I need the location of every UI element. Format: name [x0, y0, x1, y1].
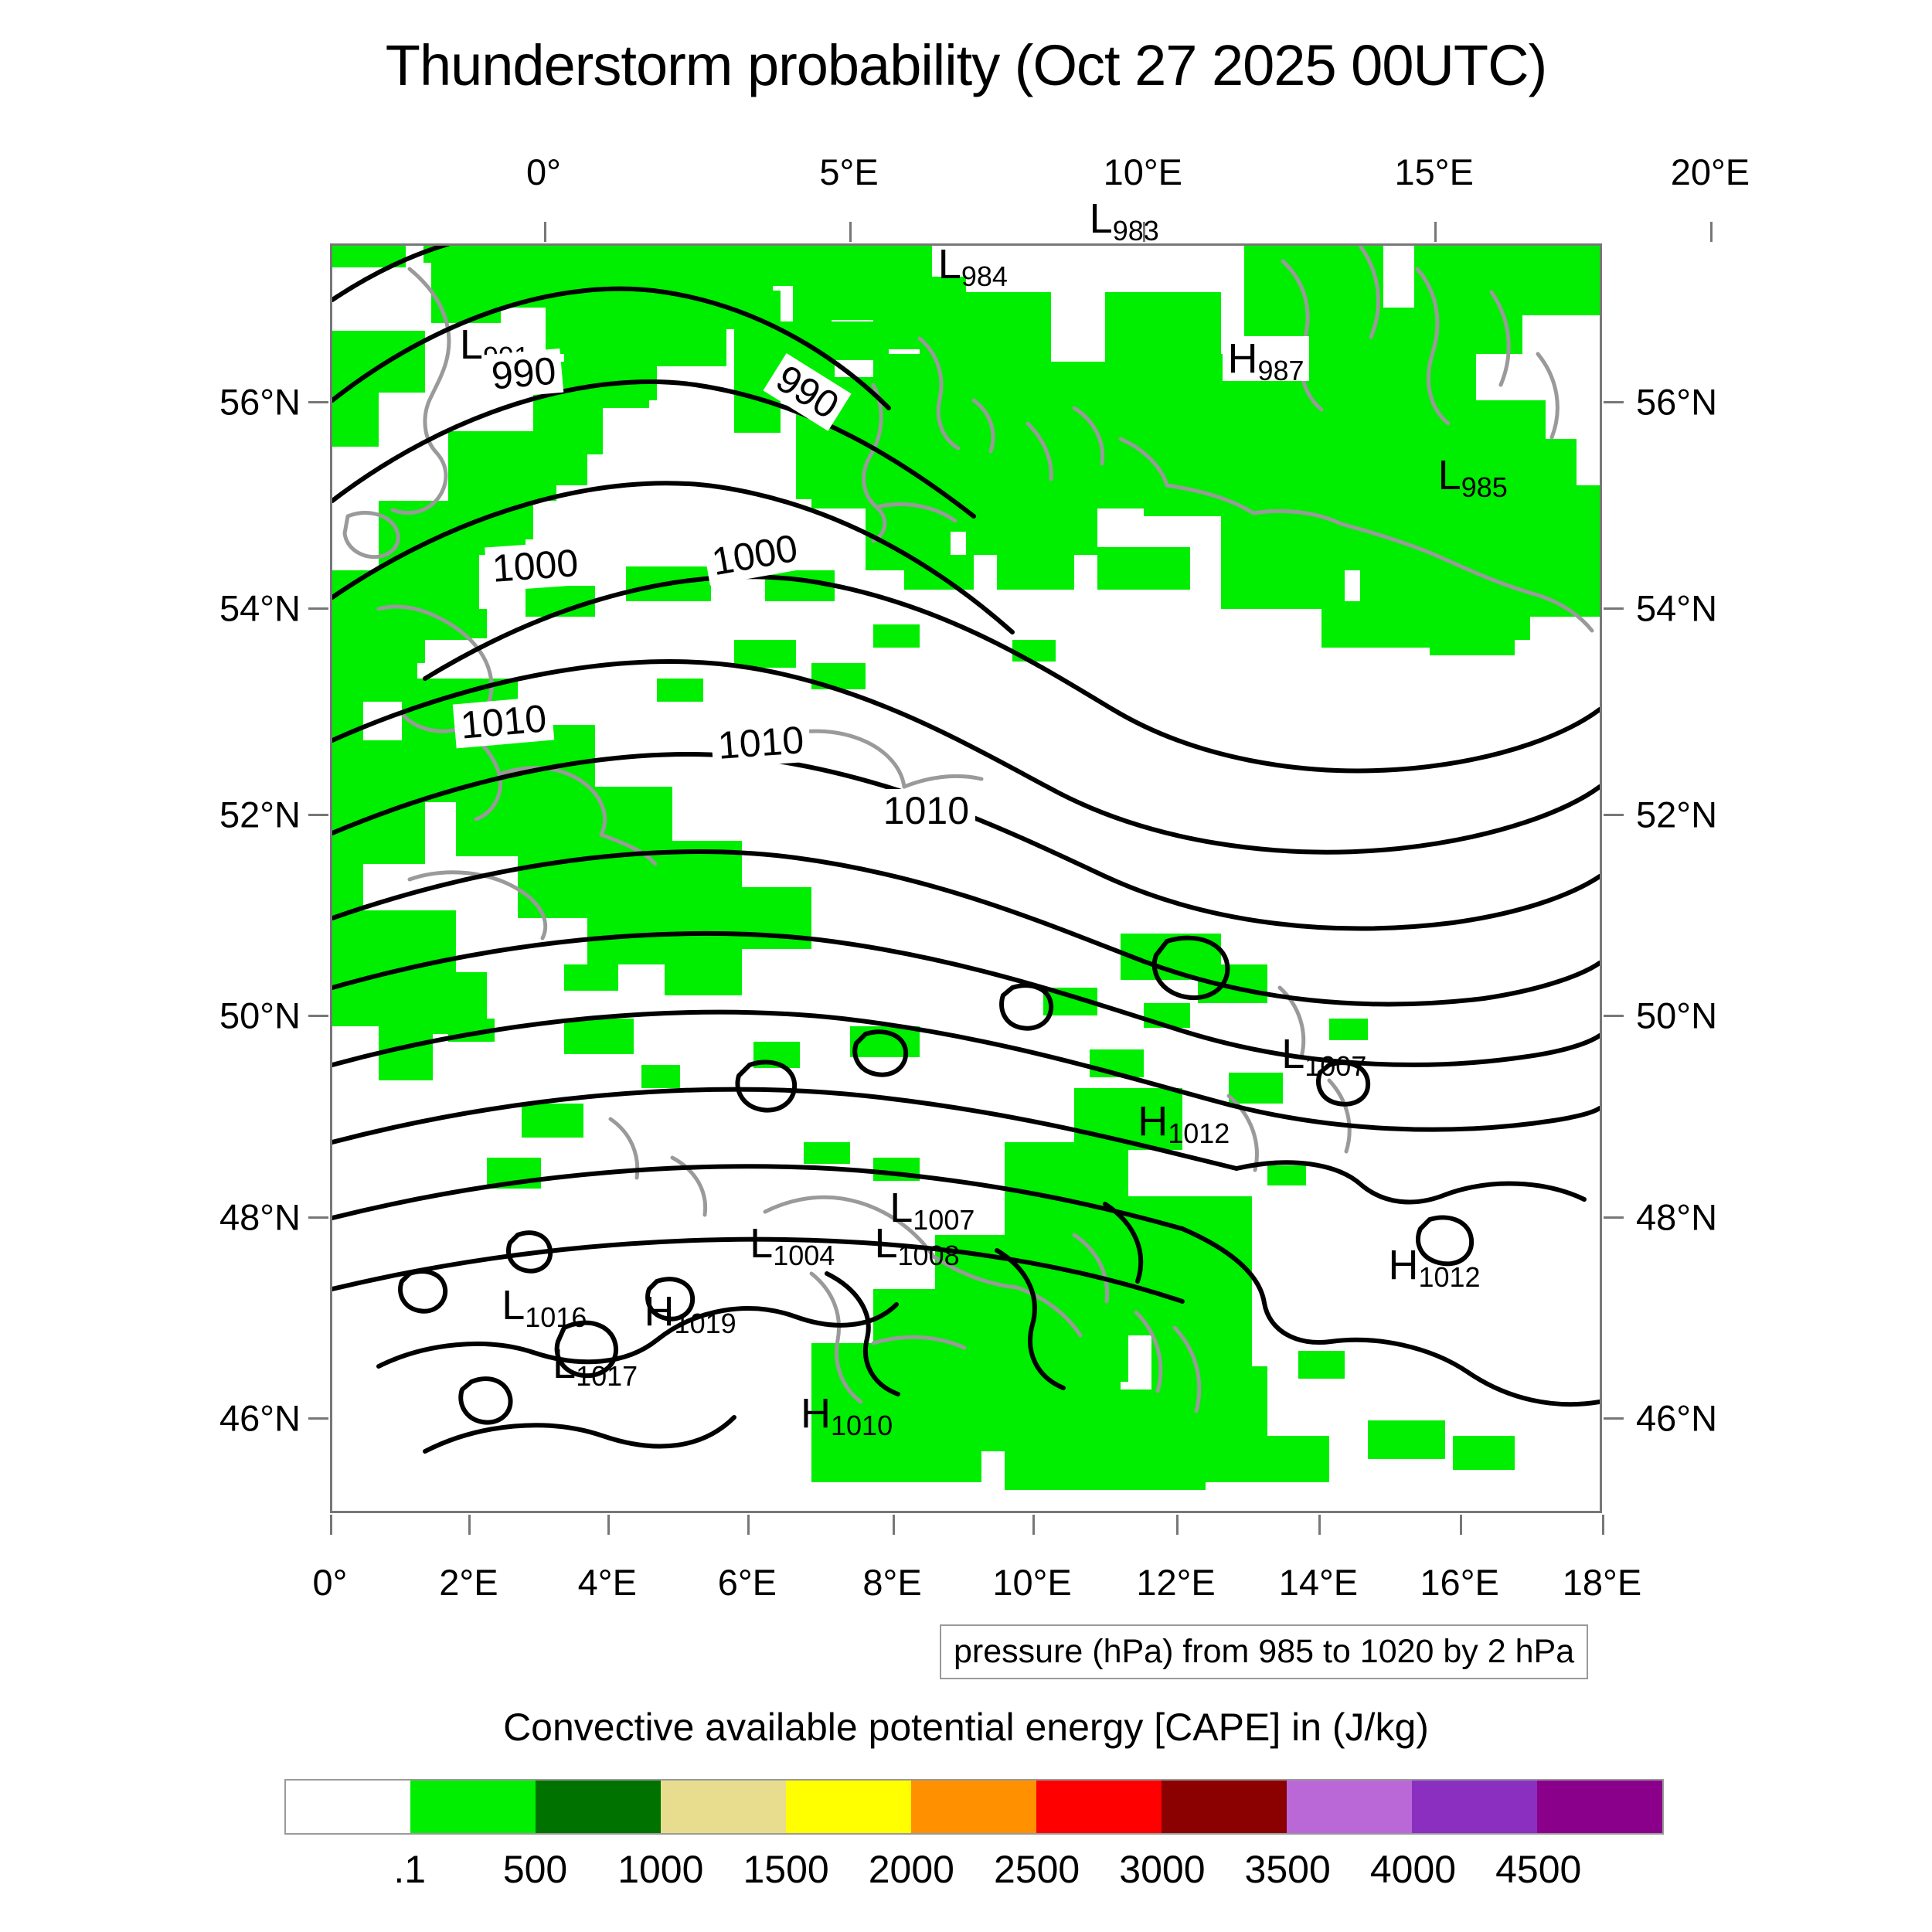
contour-label-1010-5: 1010: [710, 717, 811, 768]
colorbar-segment-0[interactable]: [286, 1781, 410, 1833]
pressure-legend: pressure (hPa) from 985 to 1020 by 2 hPa: [940, 1624, 1588, 1679]
colorbar-tick-500: 500: [503, 1847, 567, 1892]
pressure-system-label-l-1007: L1007: [1281, 1033, 1366, 1075]
right-axis-tick-2: [1604, 814, 1624, 816]
bottom-axis-tick-2: [607, 1515, 610, 1535]
left-axis-label-2: 52°N: [185, 794, 301, 836]
bottom-axis-label-4: 8°E: [862, 1561, 921, 1604]
left-axis-tick-5: [308, 1417, 328, 1420]
pressure-system-symbol: L: [938, 241, 961, 287]
colorbar-tick-1500: 1500: [743, 1847, 828, 1892]
left-axis-tick-0: [308, 401, 328, 403]
right-axis-tick-4: [1604, 1216, 1624, 1219]
colorbar-segment-7[interactable]: [1162, 1781, 1287, 1833]
top-axis-label-1: 5°E: [819, 151, 878, 193]
contour-label-1010-6: 1010: [877, 789, 975, 833]
bottom-axis-tick-5: [1032, 1515, 1035, 1535]
pressure-system-symbol: H: [801, 1390, 831, 1437]
colorbar-segment-10[interactable]: [1537, 1781, 1662, 1833]
top-axis-tick-0: [544, 222, 546, 242]
colorbar-segment-3[interactable]: [661, 1781, 786, 1833]
pressure-system-value: 984: [961, 260, 1008, 292]
left-axis-label-5: 46°N: [185, 1396, 301, 1439]
pressure-system-label-l-984: L984: [938, 243, 1008, 285]
pressure-system-symbol: L: [553, 1341, 576, 1387]
top-axis-label-0: 0°: [526, 151, 561, 193]
colorbar-segment-2[interactable]: [536, 1781, 661, 1833]
pressure-system-value: 1004: [773, 1240, 835, 1271]
bottom-axis-tick-6: [1176, 1515, 1179, 1535]
bottom-axis-label-1: 2°E: [439, 1561, 498, 1604]
pressure-system-value: 1019: [675, 1308, 736, 1339]
pressure-system-label-h-1019: H1019: [645, 1291, 736, 1332]
bottom-axis-tick-3: [747, 1515, 750, 1535]
pressure-system-label-l-1004: L1004: [750, 1223, 835, 1264]
pressure-system-value: 983: [1113, 215, 1159, 247]
colorbar-segment-9[interactable]: [1412, 1781, 1537, 1833]
pressure-system-symbol: H: [1227, 335, 1257, 382]
pressure-system-symbol: L: [460, 321, 483, 368]
pressure-system-label-h-1010: H1010: [801, 1393, 893, 1434]
top-axis-label-3: 15°E: [1395, 151, 1474, 193]
left-axis-tick-2: [308, 814, 328, 816]
left-axis-tick-4: [308, 1216, 328, 1219]
pressure-system-symbol: L: [874, 1220, 897, 1267]
pressure-system-symbol: L: [502, 1282, 525, 1328]
pressure-system-value: 987: [1257, 355, 1304, 386]
colorbar-tick-4000: 4000: [1370, 1847, 1456, 1892]
bottom-axis-tick-0: [330, 1515, 332, 1535]
pressure-system-symbol: L: [1090, 196, 1113, 242]
right-axis-label-0: 56°N: [1636, 381, 1717, 423]
pressure-system-value: 985: [1461, 471, 1508, 503]
left-axis-label-3: 50°N: [185, 994, 301, 1036]
bottom-axis-label-3: 6°E: [718, 1561, 777, 1604]
pressure-system-label-l-1008: L1008: [874, 1223, 959, 1264]
pressure-system-label-h-1012: H1012: [1138, 1100, 1230, 1142]
colorbar[interactable]: [284, 1779, 1664, 1835]
top-axis-tick-1: [849, 222, 852, 242]
pressure-system-label-l-1017: L1017: [553, 1343, 638, 1385]
bottom-axis-label-9: 18°E: [1563, 1561, 1641, 1604]
right-axis-label-5: 46°N: [1636, 1396, 1717, 1439]
bottom-axis-label-7: 14°E: [1279, 1561, 1358, 1604]
colorbar-tick-labels: .150010001500200025003000350040004500: [284, 1847, 1664, 1896]
left-axis-label-1: 54°N: [185, 587, 301, 629]
right-axis-label-4: 48°N: [1636, 1196, 1717, 1239]
bottom-axis-tick-1: [468, 1515, 471, 1535]
contour-label-990-0: 990: [484, 348, 564, 398]
bottom-axis-tick-7: [1318, 1515, 1321, 1535]
pressure-system-value: 1017: [576, 1360, 638, 1392]
left-axis-tick-1: [308, 607, 328, 610]
pressure-system-label-l-983: L983: [1090, 198, 1159, 240]
colorbar-tick-1000: 1000: [617, 1847, 703, 1892]
pressure-system-value: 1012: [1168, 1117, 1230, 1149]
colorbar-segment-4[interactable]: [786, 1781, 911, 1833]
top-axis-tick-4: [1710, 222, 1713, 242]
colorbar-tick-3000: 3000: [1119, 1847, 1205, 1892]
top-axis-tick-3: [1434, 222, 1437, 242]
bottom-axis-label-0: 0°: [313, 1561, 348, 1604]
colorbar-tick-.1: .1: [393, 1847, 426, 1892]
pressure-system-symbol: L: [1281, 1031, 1304, 1077]
left-axis-label-4: 48°N: [185, 1196, 301, 1239]
bottom-axis-tick-4: [893, 1515, 895, 1535]
right-axis-label-1: 54°N: [1636, 587, 1717, 629]
colorbar-tick-2500: 2500: [994, 1847, 1080, 1892]
right-axis-tick-1: [1604, 607, 1624, 610]
colorbar-segment-6[interactable]: [1036, 1781, 1162, 1833]
right-axis-tick-0: [1604, 401, 1624, 403]
pressure-system-symbol: L: [750, 1220, 773, 1267]
colorbar-tick-4500: 4500: [1495, 1847, 1581, 1892]
pressure-system-value: 1016: [525, 1301, 587, 1333]
bottom-axis-label-2: 4°E: [578, 1561, 637, 1604]
left-axis-tick-3: [308, 1015, 328, 1017]
colorbar-tick-3500: 3500: [1245, 1847, 1331, 1892]
right-axis-label-3: 50°N: [1636, 994, 1717, 1036]
bottom-axis-label-8: 16°E: [1420, 1561, 1498, 1604]
bottom-axis-tick-8: [1460, 1515, 1462, 1535]
pressure-system-label-l-1016: L1016: [502, 1284, 587, 1326]
colorbar-segment-5[interactable]: [911, 1781, 1036, 1833]
pressure-system-value: 1008: [898, 1240, 960, 1271]
pressure-system-symbol: H: [1138, 1098, 1168, 1145]
pressure-system-symbol: H: [645, 1288, 675, 1335]
right-axis-tick-5: [1604, 1417, 1624, 1420]
top-axis-label-4: 20°E: [1671, 151, 1750, 193]
colorbar-caption: Convective available potential energy [C…: [0, 1705, 1932, 1750]
right-axis-tick-3: [1604, 1015, 1624, 1017]
pressure-system-value: 1007: [1304, 1050, 1366, 1082]
pressure-system-label-h-987: H987: [1223, 336, 1308, 381]
top-axis-label-2: 10°E: [1104, 151, 1182, 193]
bottom-axis-label-5: 10°E: [992, 1561, 1071, 1604]
page-title: Thunderstorm probability (Oct 27 2025 00…: [0, 32, 1932, 98]
bottom-axis-tick-9: [1602, 1515, 1604, 1535]
pressure-system-symbol: H: [1388, 1242, 1418, 1288]
colorbar-tick-2000: 2000: [869, 1847, 954, 1892]
bottom-axis-label-6: 12°E: [1136, 1561, 1215, 1604]
contour-label-1010-4: 1010: [453, 696, 555, 749]
colorbar-segment-1[interactable]: [410, 1781, 536, 1833]
pressure-system-value: 1012: [1418, 1261, 1480, 1293]
right-axis-label-2: 52°N: [1636, 794, 1717, 836]
contour-label-1000-2: 1000: [485, 541, 587, 592]
pressure-system-symbol: L: [1438, 452, 1461, 498]
left-axis-label-0: 56°N: [185, 381, 301, 423]
colorbar-segment-8[interactable]: [1287, 1781, 1412, 1833]
pressure-system-label-h-1012: H1012: [1388, 1244, 1480, 1286]
pressure-system-value: 1010: [831, 1410, 893, 1441]
pressure-system-label-l-985: L985: [1438, 454, 1508, 496]
